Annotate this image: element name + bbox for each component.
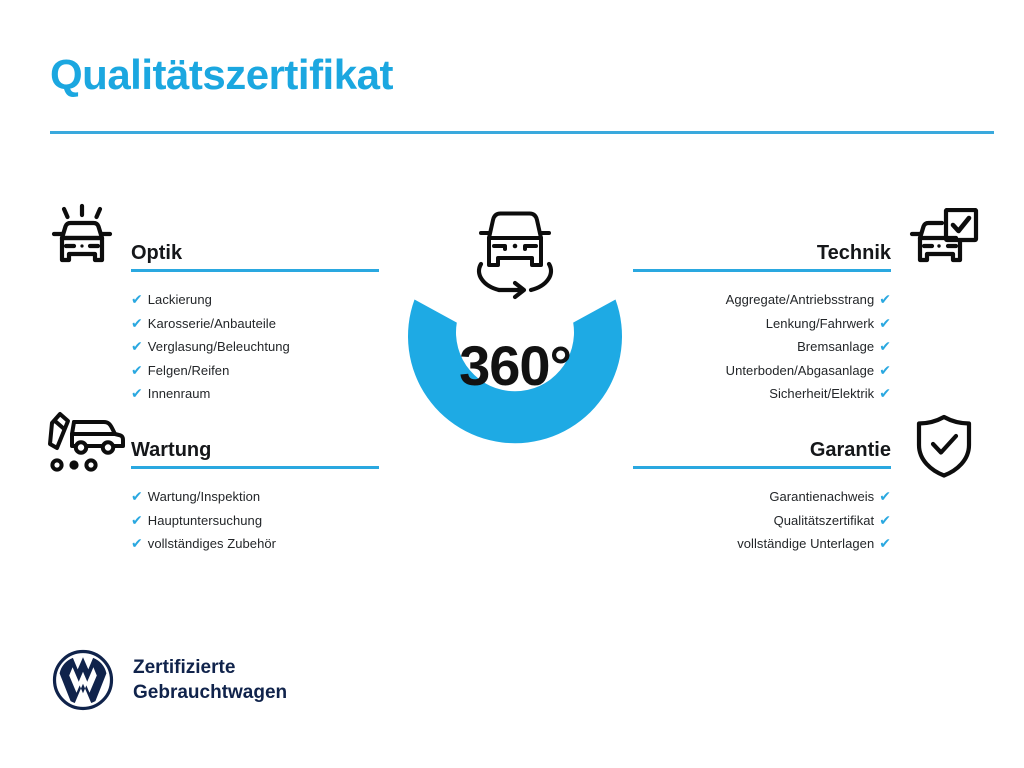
footer-text: Zertifizierte Gebrauchtwagen: [133, 655, 287, 705]
check-icon: ✔: [131, 291, 143, 307]
check-icon: ✔: [879, 338, 891, 354]
check-icon: ✔: [879, 488, 891, 504]
check-item-label: Felgen/Reifen: [148, 363, 230, 378]
check-item: ✔vollständiges Zubehör: [131, 532, 379, 556]
footer-line-2: Gebrauchtwagen: [133, 680, 287, 705]
section-technik: Technik Aggregate/Antriebsstrang✔Lenkung…: [633, 240, 891, 406]
check-icon: ✔: [131, 385, 143, 401]
check-item: ✔Karosserie/Anbauteile: [131, 312, 379, 336]
check-item-label: Unterboden/Abgasanlage: [726, 363, 875, 378]
check-item-label: Qualitätszertifikat: [774, 513, 875, 528]
check-icon: ✔: [131, 315, 143, 331]
check-item: Garantienachweis✔: [633, 485, 891, 509]
check-item-label: Lenkung/Fahrwerk: [766, 316, 874, 331]
section-garantie-divider: [633, 466, 891, 469]
check-icon: ✔: [131, 535, 143, 551]
check-item: Bremsanlage✔: [633, 335, 891, 359]
check-item-label: Bremsanlage: [797, 339, 874, 354]
360-check-badge: Gebrauchtwagen-Check 360°: [370, 196, 660, 496]
section-wartung: Wartung ✔Wartung/Inspektion✔Hauptuntersu…: [131, 437, 379, 556]
check-item: ✔Verglasung/Beleuchtung: [131, 335, 379, 359]
check-icon: ✔: [131, 512, 143, 528]
check-item-label: Lackierung: [148, 292, 212, 307]
check-item-label: Verglasung/Beleuchtung: [148, 339, 290, 354]
section-wartung-divider: [131, 466, 379, 469]
certificate-page: Qualitätszertifikat: [0, 0, 1024, 768]
check-item-label: Innenraum: [148, 386, 211, 401]
wrench-car-icon: [46, 408, 126, 479]
check-item: ✔Hauptuntersuchung: [131, 509, 379, 533]
car-checkbox-icon: [908, 208, 980, 277]
page-title: Qualitätszertifikat: [50, 52, 393, 98]
section-wartung-title: Wartung: [131, 437, 379, 463]
check-item-label: Karosserie/Anbauteile: [148, 316, 276, 331]
check-item-label: vollständiges Zubehör: [148, 536, 276, 551]
check-icon: ✔: [131, 488, 143, 504]
check-item: ✔Lackierung: [131, 288, 379, 312]
section-optik-title: Optik: [131, 240, 379, 266]
section-technik-list: Aggregate/Antriebsstrang✔Lenkung/Fahrwer…: [633, 288, 891, 406]
vw-logo-icon: [52, 649, 114, 711]
check-item: Aggregate/Antriebsstrang✔: [633, 288, 891, 312]
title-divider: [50, 131, 994, 134]
check-icon: ✔: [131, 338, 143, 354]
check-icon: ✔: [131, 362, 143, 378]
check-item: Unterboden/Abgasanlage✔: [633, 359, 891, 383]
section-optik-list: ✔Lackierung✔Karosserie/Anbauteile✔Vergla…: [131, 288, 379, 406]
check-item-label: Garantienachweis: [769, 489, 874, 504]
section-garantie-title: Garantie: [633, 437, 891, 463]
check-item-label: Hauptuntersuchung: [148, 513, 262, 528]
check-item: Sicherheit/Elektrik✔: [633, 382, 891, 406]
check-icon: ✔: [879, 512, 891, 528]
check-icon: ✔: [879, 291, 891, 307]
vw-footer: Zertifizierte Gebrauchtwagen: [52, 649, 287, 711]
check-icon: ✔: [879, 385, 891, 401]
footer-line-1: Zertifizierte: [133, 655, 287, 680]
check-item: Lenkung/Fahrwerk✔: [633, 312, 891, 336]
section-wartung-list: ✔Wartung/Inspektion✔Hauptuntersuchung✔vo…: [131, 485, 379, 556]
car-shine-icon: [46, 203, 118, 280]
check-icon: ✔: [879, 535, 891, 551]
section-garantie-head: Garantie: [633, 437, 891, 471]
badge-number: 360°: [370, 333, 660, 398]
section-technik-title: Technik: [633, 240, 891, 266]
check-item: vollständige Unterlagen✔: [633, 532, 891, 556]
section-optik-head: Optik: [131, 240, 379, 274]
check-item-label: Sicherheit/Elektrik: [769, 386, 874, 401]
check-item-label: Wartung/Inspektion: [148, 489, 260, 504]
check-icon: ✔: [879, 315, 891, 331]
check-item-label: Aggregate/Antriebsstrang: [726, 292, 875, 307]
section-optik-divider: [131, 269, 379, 272]
section-wartung-head: Wartung: [131, 437, 379, 471]
section-technik-head: Technik: [633, 240, 891, 274]
check-item: ✔Felgen/Reifen: [131, 359, 379, 383]
section-garantie-list: Garantienachweis✔Qualitätszertifikat✔vol…: [633, 485, 891, 556]
check-item: Qualitätszertifikat✔: [633, 509, 891, 533]
check-item-label: vollständige Unterlagen: [737, 536, 874, 551]
car-rotation-icon: [465, 196, 565, 306]
section-optik: Optik ✔Lackierung✔Karosserie/Anbauteile✔…: [131, 240, 379, 406]
shield-check-icon: [913, 413, 975, 484]
section-technik-divider: [633, 269, 891, 272]
check-icon: ✔: [879, 362, 891, 378]
check-item: ✔Innenraum: [131, 382, 379, 406]
section-garantie: Garantie Garantienachweis✔Qualitätszerti…: [633, 437, 891, 556]
check-item: ✔Wartung/Inspektion: [131, 485, 379, 509]
